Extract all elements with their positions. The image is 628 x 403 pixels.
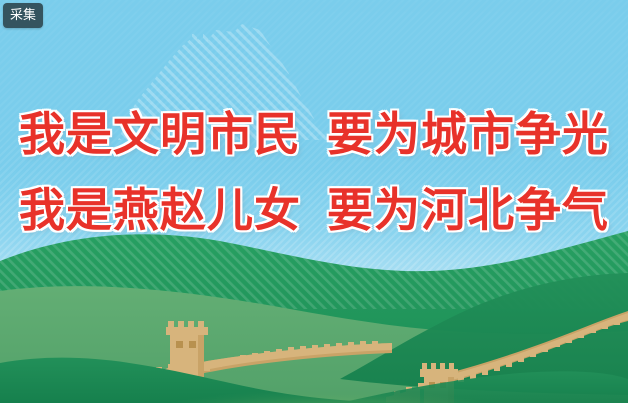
watchtower-left <box>166 321 208 377</box>
headline-line2-right: 要为河北争气 <box>327 183 609 237</box>
headline-line1-left: 我是文明市民 <box>19 107 301 161</box>
headline-line-2: 我是燕赵儿女要为河北争气 <box>0 172 628 248</box>
banner-image: 我是文明市民要为城市争光 我是燕赵儿女要为河北争气 采集 <box>0 0 628 403</box>
capture-button[interactable]: 采集 <box>3 3 43 28</box>
headline-line2-left: 我是燕赵儿女 <box>19 183 301 237</box>
headline-line-1: 我是文明市民要为城市争光 <box>0 96 628 172</box>
headline-block: 我是文明市民要为城市争光 我是燕赵儿女要为河北争气 <box>0 96 628 248</box>
headline-line1-right: 要为城市争光 <box>327 107 609 161</box>
